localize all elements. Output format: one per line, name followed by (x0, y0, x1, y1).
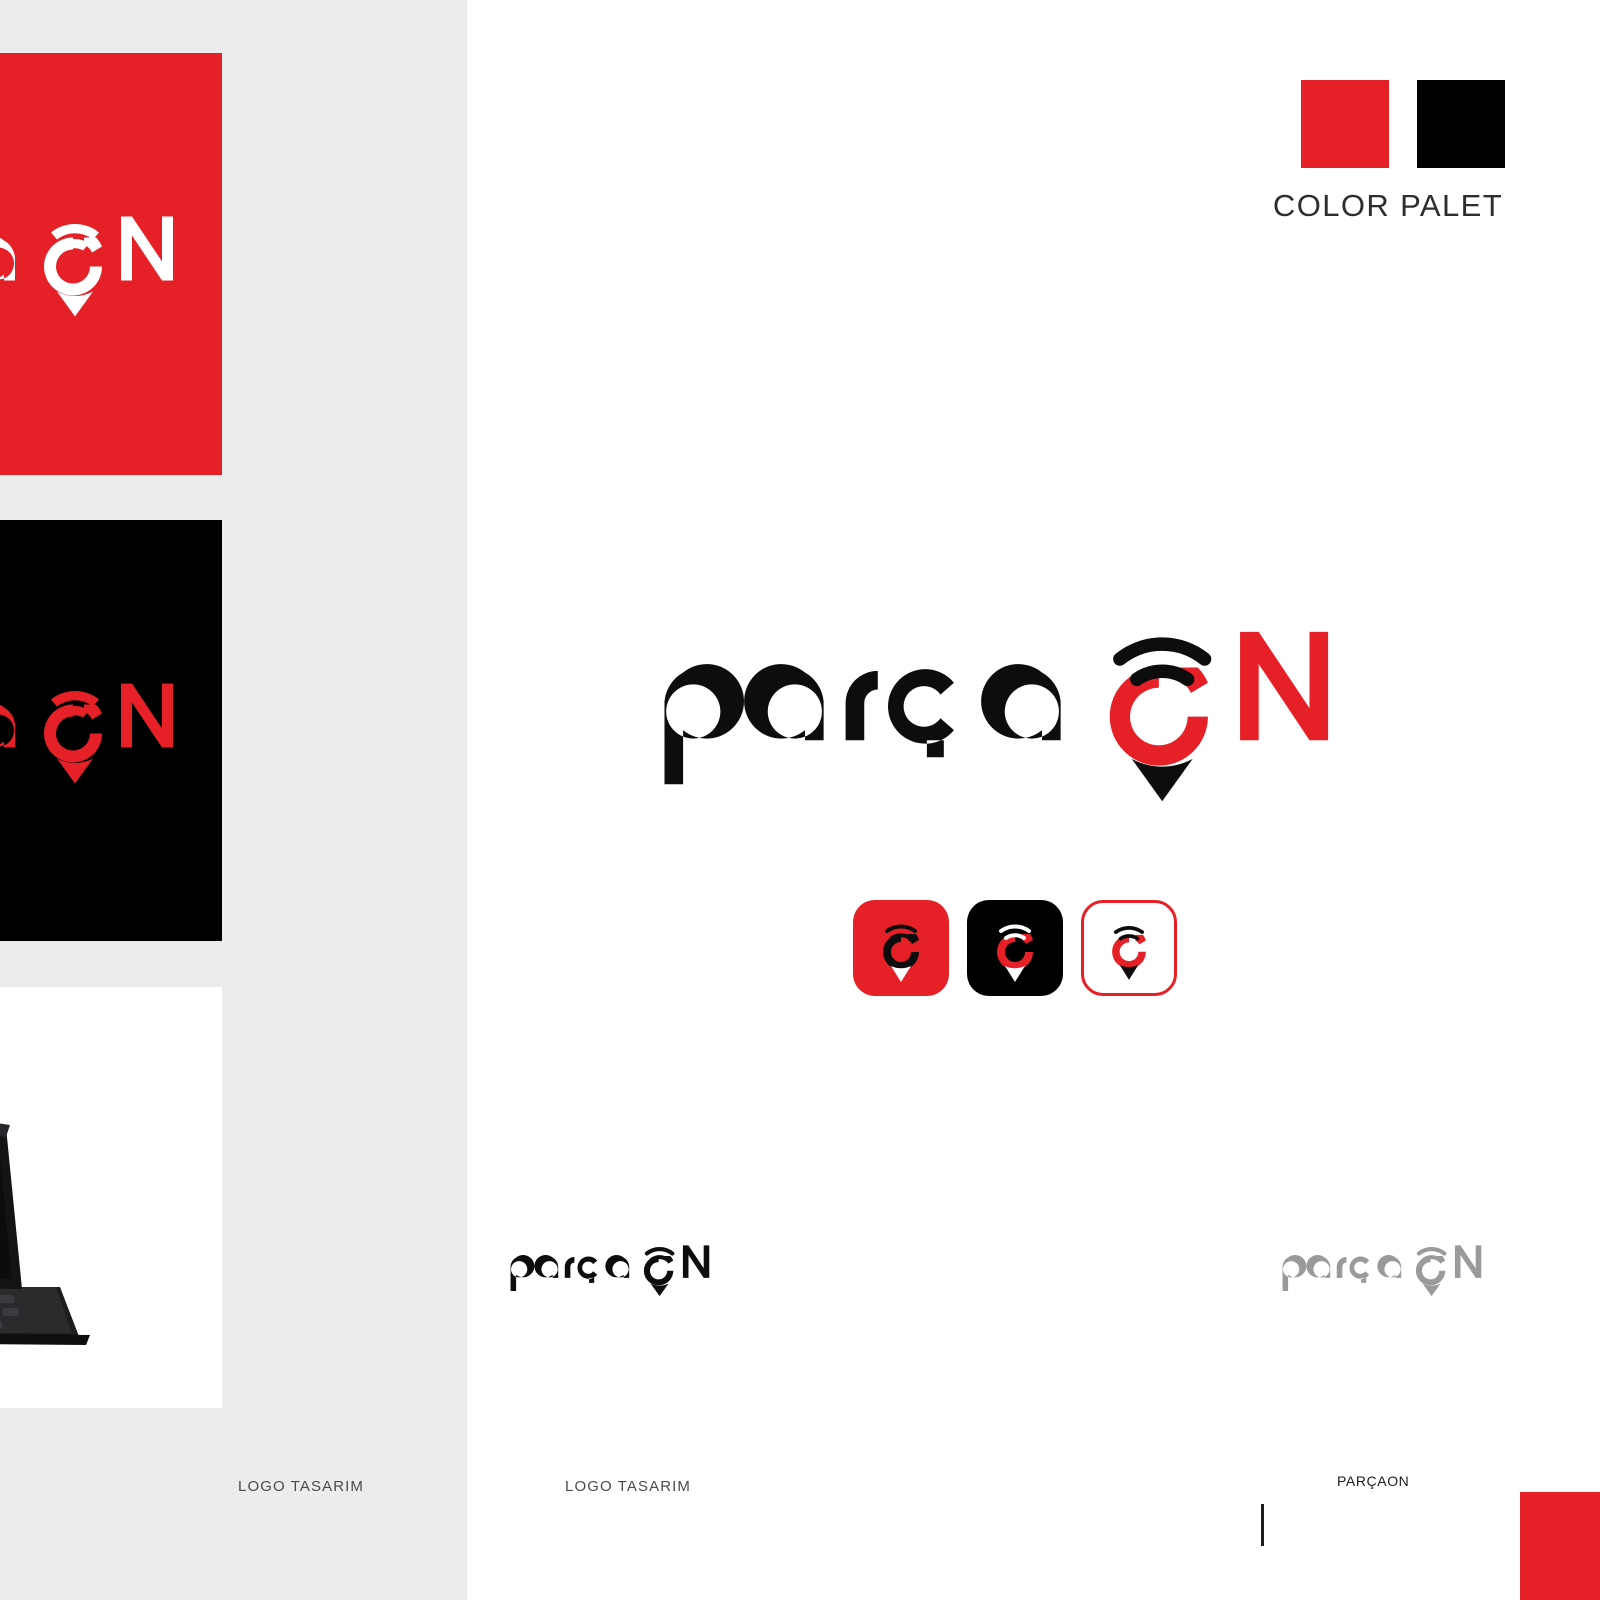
app-icon-red[interactable] (853, 900, 949, 996)
app-icon-red-mark (853, 900, 949, 996)
footer-brand-label: PARÇAON (1337, 1473, 1409, 1489)
wifi-arcs-icon (1120, 644, 1205, 679)
app-icon-outline[interactable] (1081, 900, 1177, 996)
left-panel (0, 0, 467, 1600)
location-pin-icon (997, 934, 1033, 982)
laptop-and-boxes-image (0, 987, 222, 1408)
color-palet-label: COLOR PALET (1258, 188, 1518, 224)
app-icon-black-mark (967, 900, 1063, 996)
app-icon-row (853, 900, 1177, 996)
left-card-red (0, 53, 222, 475)
logo-mono-gray (1280, 1240, 1498, 1305)
wordmark-parca (664, 664, 1060, 784)
wordmark-letter-n (1240, 632, 1328, 740)
location-pin-icon (883, 934, 919, 982)
panel-divider (467, 0, 468, 1600)
parcaon-logo-mono-gray (1280, 1240, 1498, 1305)
main-logo (655, 615, 1385, 830)
card-black-wordmark (0, 673, 206, 788)
logo-mono-black (508, 1240, 726, 1305)
parcaon-wordmark-red (0, 673, 206, 783)
location-pin-icon (1110, 667, 1208, 801)
parcaon-logo-mono-black (508, 1240, 726, 1305)
location-pin-icon (1112, 935, 1146, 980)
wifi-arcs-icon (887, 926, 915, 938)
color-palet-block: COLOR PALET (1258, 70, 1518, 165)
parcaon-wordmark-white (0, 207, 206, 317)
card-red-wordmark (0, 207, 206, 322)
parcaon-logo-primary (655, 615, 1385, 830)
corner-red-block (1520, 1492, 1600, 1600)
wifi-arcs-icon (1001, 926, 1029, 938)
app-icon-black[interactable] (967, 900, 1063, 996)
footer-label-center: LOGO TASARIM (565, 1478, 691, 1495)
color-swatch-red (1301, 80, 1389, 168)
footer-label-left: LOGO TASARIM (238, 1478, 364, 1495)
color-swatch-row (1258, 70, 1518, 165)
color-swatch-black (1417, 80, 1505, 168)
left-card-black (0, 520, 222, 941)
left-card-photo (0, 987, 222, 1408)
footer-divider (1261, 1504, 1264, 1546)
wifi-arcs-icon (1116, 928, 1142, 939)
app-icon-outline-mark (1084, 903, 1174, 993)
